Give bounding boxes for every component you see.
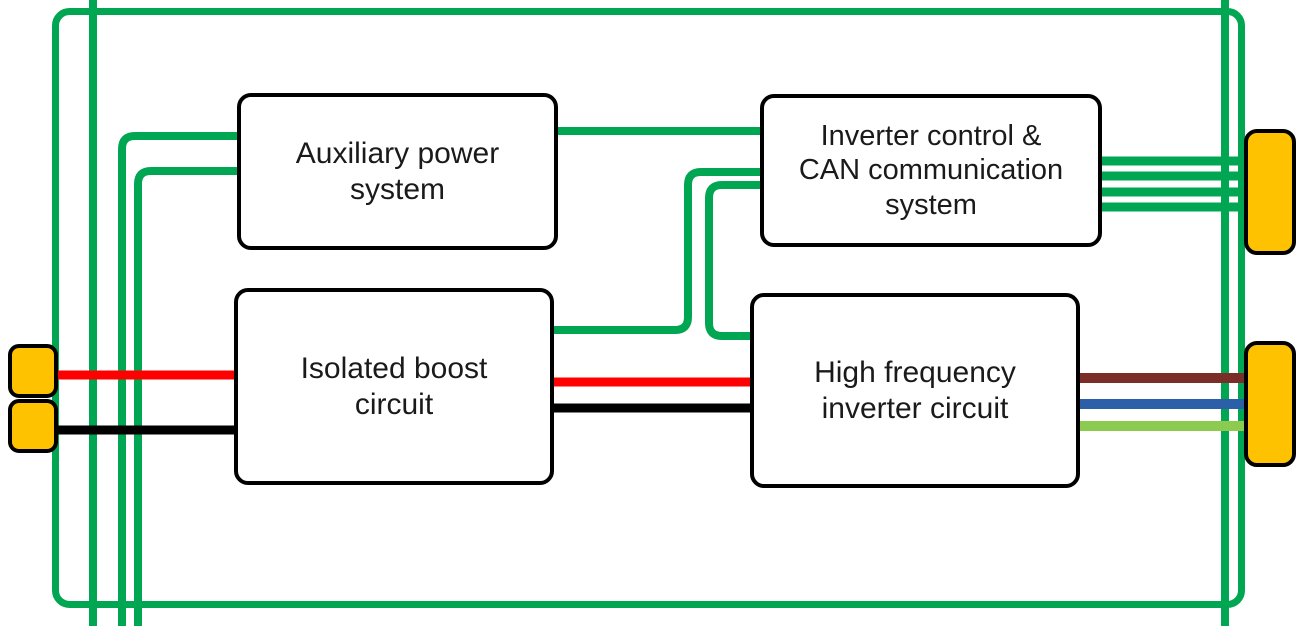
diagram-canvas: Auxiliary power system Inverter control … — [0, 0, 1300, 626]
left-connector-negative[interactable] — [10, 401, 56, 451]
right-connector-ac-output[interactable] — [1246, 343, 1294, 465]
left-connector-positive[interactable] — [10, 346, 56, 396]
block-rect-group — [236, 95, 1100, 486]
aux-supply-branch-b-wire — [138, 171, 239, 626]
block-auxiliary-power-system[interactable] — [239, 95, 556, 248]
control-signal-wire-group — [552, 131, 762, 336]
aux-supply-branch-group — [122, 136, 239, 626]
block-high-frequency-inverter-circuit[interactable] — [752, 295, 1078, 486]
block-isolated-boost-circuit[interactable] — [236, 290, 552, 483]
boost-to-inverter-control-wire — [552, 172, 762, 330]
diagram-svg — [0, 0, 1300, 626]
right-connector-can[interactable] — [1246, 131, 1294, 253]
block-inverter-control-can[interactable] — [762, 96, 1100, 245]
